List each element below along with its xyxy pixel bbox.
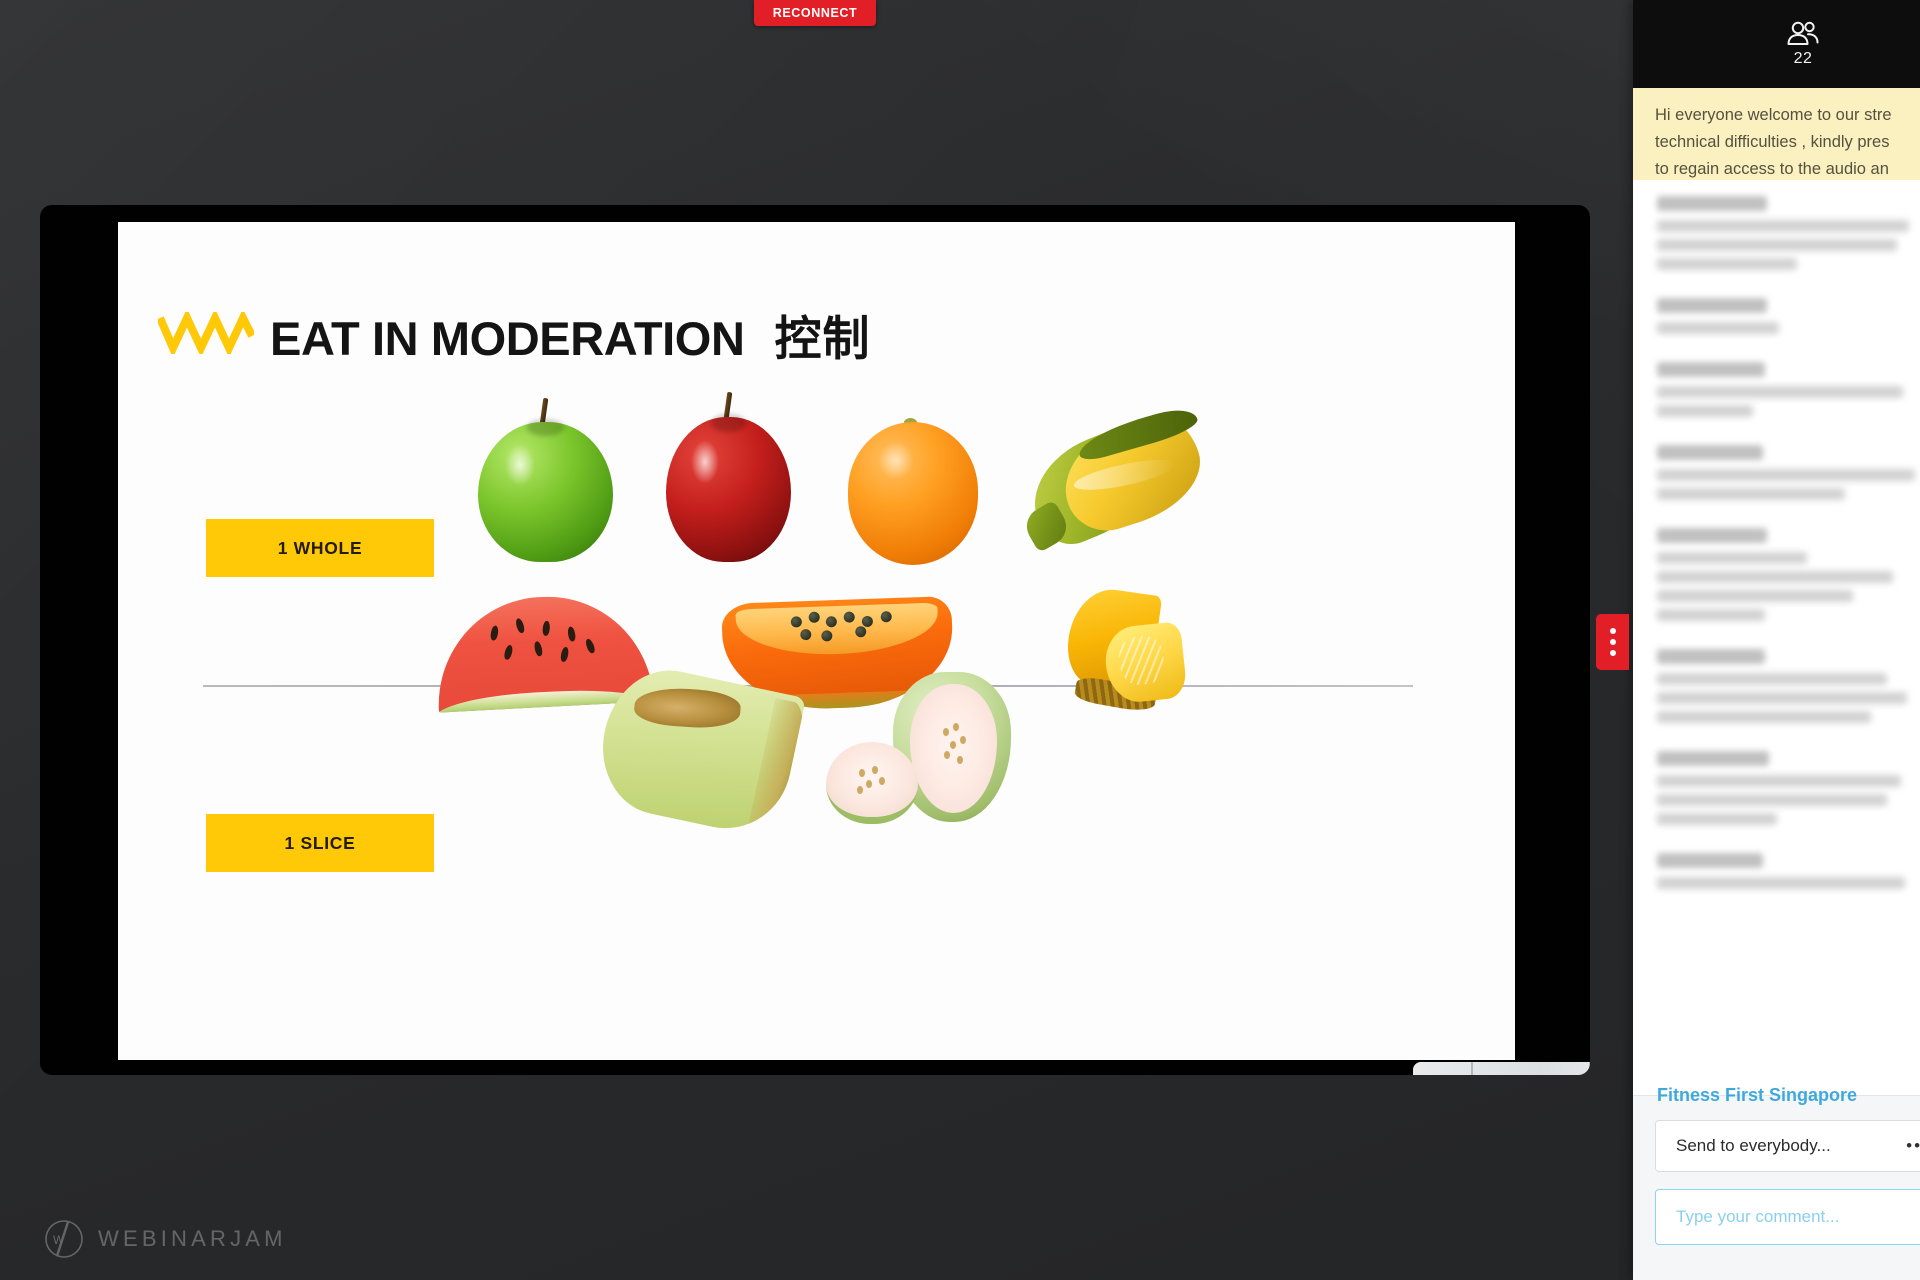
chat-message-line [1657, 673, 1887, 685]
chat-message-author [1657, 196, 1767, 211]
comment-input[interactable]: Type your comment... [1655, 1189, 1920, 1245]
portion-tag-whole-label: 1 WHOLE [278, 538, 363, 559]
chat-message-line [1657, 469, 1915, 481]
chat-message-line [1657, 794, 1887, 806]
presentation-stage: EAT IN MODERATION控制 1 WHOLE 1 SLICE [40, 205, 1590, 1075]
chat-message [1657, 445, 1920, 500]
fruit-green-apple [478, 422, 613, 562]
chat-message-line [1657, 258, 1797, 270]
zigzag-decoration-icon [158, 312, 254, 354]
chat-message-line [1657, 220, 1909, 232]
recipient-more-icon[interactable]: ••• [1906, 1136, 1920, 1156]
chat-message-author [1657, 528, 1767, 543]
recipient-select[interactable]: Send to everybody... ••• [1655, 1120, 1920, 1172]
webinarjam-logo-icon: W [44, 1219, 84, 1259]
fruit-starfruit [1023, 414, 1198, 564]
chat-message [1657, 362, 1920, 417]
chat-message-author [1657, 853, 1763, 868]
webinarjam-watermark: W WEBINARJAM [44, 1219, 287, 1259]
slide-title-en: EAT IN MODERATION [270, 312, 745, 365]
chat-message-line [1657, 552, 1807, 564]
portion-tag-whole: 1 WHOLE [206, 519, 434, 577]
chat-message-line [1657, 590, 1853, 602]
kebab-menu-icon[interactable] [1596, 614, 1629, 670]
chat-message-line [1657, 609, 1765, 621]
chat-message-line [1657, 711, 1871, 723]
chat-message-line [1657, 322, 1779, 334]
fruit-orange [848, 422, 978, 565]
fruit-red-apple [666, 417, 791, 562]
chat-message [1657, 298, 1920, 334]
people-icon [1786, 21, 1820, 47]
chat-message-author [1657, 298, 1767, 313]
chat-message-line [1657, 775, 1901, 787]
chat-message [1657, 751, 1920, 825]
chat-message-author [1657, 649, 1765, 664]
chat-message [1657, 649, 1920, 723]
reconnect-button[interactable]: RECONNECT [754, 0, 876, 26]
slide-title: EAT IN MODERATION控制 [270, 300, 871, 369]
chat-message [1657, 528, 1920, 621]
chat-message-line [1657, 488, 1845, 500]
chat-panel: 22 Hi everyone welcome to our stre techn… [1633, 0, 1920, 1280]
chat-banner-line-1: Hi everyone welcome to our stre [1655, 102, 1920, 129]
chat-banner-line-3: to regain access to the audio an [1655, 156, 1920, 183]
fruit-honeydew-slice [603, 677, 793, 822]
chat-banner-line-2: technical difficulties , kindly pres [1655, 129, 1920, 156]
presenter-video-thumbnail[interactable] [1413, 1062, 1590, 1075]
chat-message-line [1657, 405, 1753, 417]
portion-tag-slice: 1 SLICE [206, 814, 434, 872]
portion-tag-slice-label: 1 SLICE [284, 833, 355, 854]
webinarjam-wordmark: WEBINARJAM [98, 1226, 287, 1252]
recipient-select-value: Send to everybody... [1676, 1136, 1831, 1156]
fruit-pineapple-slices [1058, 590, 1198, 705]
chat-panel-header: 22 [1633, 0, 1920, 88]
attendee-count: 22 [1794, 50, 1813, 68]
slide-title-cjk: 控制 [775, 312, 871, 365]
slide-canvas: EAT IN MODERATION控制 1 WHOLE 1 SLICE [118, 222, 1515, 1060]
chat-message-line [1657, 877, 1905, 889]
chat-message-author [1657, 445, 1763, 460]
chat-message-author [1657, 751, 1769, 766]
chat-message-line [1657, 386, 1903, 398]
fruit-guava-half [826, 742, 918, 824]
chat-message-author [1657, 362, 1765, 377]
chat-message-author-highlight: Fitness First Singapore [1657, 1085, 1857, 1106]
chat-message-list[interactable] [1633, 180, 1920, 1080]
chat-composer: Send to everybody... ••• Type your comme… [1633, 1095, 1920, 1280]
chat-message [1657, 853, 1920, 889]
chat-message-line [1657, 571, 1893, 583]
chat-message-line [1657, 239, 1897, 251]
chat-message [1657, 196, 1920, 270]
comment-input-placeholder: Type your comment... [1676, 1207, 1839, 1227]
svg-text:W: W [53, 1233, 65, 1247]
chat-message-line [1657, 813, 1777, 825]
chat-message-line [1657, 692, 1907, 704]
